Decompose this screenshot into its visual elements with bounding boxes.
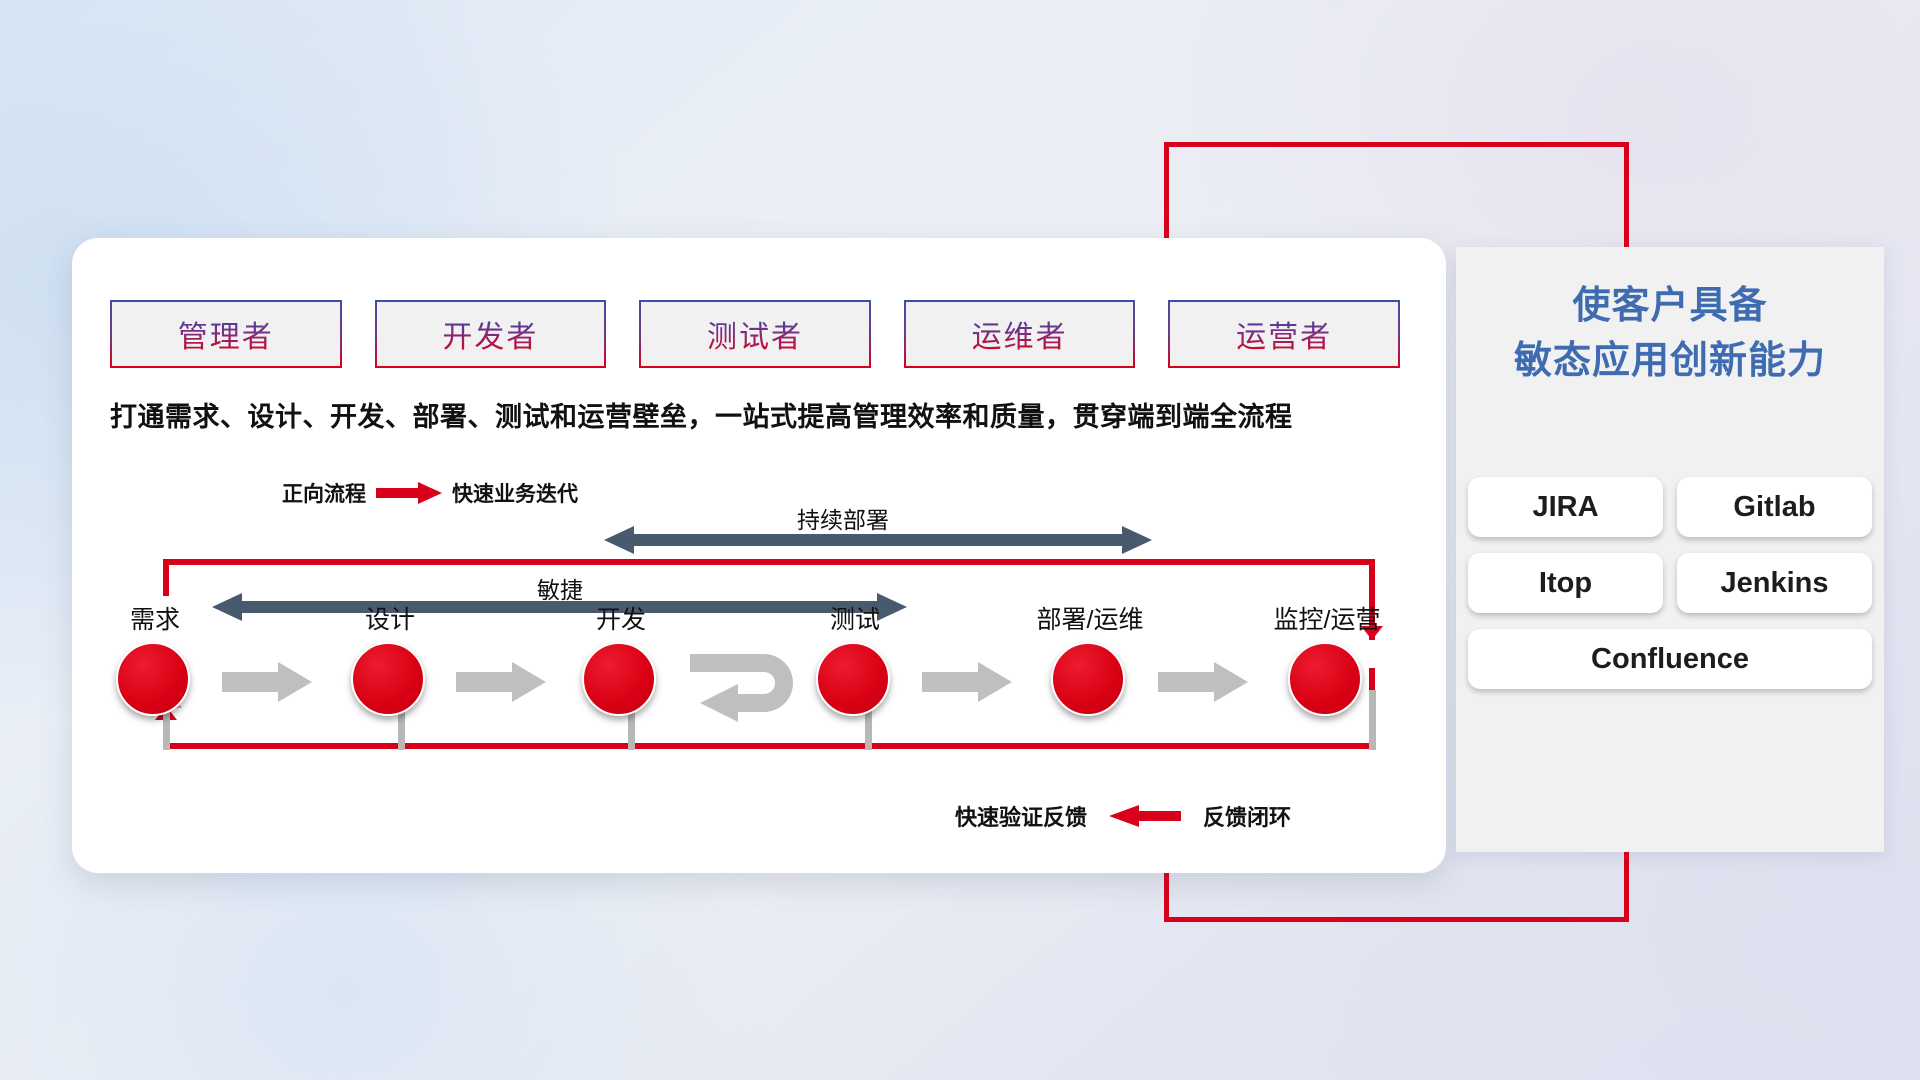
tool-pill-confluence[interactable]: Confluence — [1468, 629, 1872, 689]
flow-node-label: 部署/运维 — [1037, 600, 1144, 636]
capability-panel: 使客户具备 敏态应用创新能力 JIRA Gitlab Itop Jenkins … — [1456, 247, 1884, 852]
flow-node-monitor-operation[interactable]: 监控/运营 — [1288, 642, 1366, 720]
panel-title-line-2: 敏态应用创新能力 — [1456, 334, 1884, 389]
flow-node-deploy-ops[interactable]: 部署/运维 — [1051, 642, 1129, 720]
node-circle-icon — [582, 642, 656, 716]
flow-node-label: 测试 — [830, 600, 880, 636]
legend-forward-from-label: 正向流程 — [282, 478, 366, 508]
role-box-ops[interactable]: 运维者 — [904, 300, 1136, 368]
tool-pill-itop[interactable]: Itop — [1468, 553, 1663, 613]
flow-node-design[interactable]: 设计 — [351, 642, 429, 720]
tool-pill-gitlab[interactable]: Gitlab — [1677, 477, 1872, 537]
bracket-bottom-segment — [1164, 917, 1629, 922]
right-arrow-icon-connector-2 — [456, 662, 546, 702]
tool-pill-jenkins[interactable]: Jenkins — [1677, 553, 1872, 613]
flow-node-row: 需求 设计 开发 测试 部署/运维 — [116, 622, 1406, 732]
legend-feedback-to-label: 反馈闭环 — [1203, 800, 1291, 832]
left-arrow-icon — [1109, 805, 1181, 827]
right-arrow-icon-connector-4 — [922, 662, 1012, 702]
flow-node-label: 开发 — [596, 600, 646, 636]
flow-node-development[interactable]: 开发 — [582, 642, 660, 720]
double-headed-arrow-icon-continuous-deploy — [604, 525, 1152, 555]
flow-node-label: 需求 — [130, 600, 180, 636]
legend-feedback-from-label: 快速验证反馈 — [955, 800, 1087, 832]
role-box-developer[interactable]: 开发者 — [375, 300, 607, 368]
double-headed-arrow-icon-agile — [212, 592, 907, 622]
node-circle-icon — [351, 642, 425, 716]
role-box-operation[interactable]: 运营者 — [1168, 300, 1400, 368]
node-circle-icon — [1051, 642, 1125, 716]
node-circle-icon — [1288, 642, 1362, 716]
node-circle-icon — [116, 642, 190, 716]
flow-node-label: 监控/运营 — [1274, 600, 1381, 636]
flow-node-requirement[interactable]: 需求 — [116, 642, 194, 720]
right-arrow-icon — [376, 482, 442, 504]
tool-pill-grid: JIRA Gitlab Itop Jenkins Confluence — [1468, 477, 1872, 689]
bracket-left-top-segment — [1164, 142, 1169, 252]
right-arrow-icon-connector-1 — [222, 662, 312, 702]
panel-title: 使客户具备 敏态应用创新能力 — [1456, 279, 1884, 389]
right-arrow-icon-connector-5 — [1158, 662, 1248, 702]
legend-forward-to-label: 快速业务迭代 — [452, 478, 578, 508]
panel-title-line-1: 使客户具备 — [1456, 279, 1884, 334]
tool-pill-jira[interactable]: JIRA — [1468, 477, 1663, 537]
headline-text: 打通需求、设计、开发、部署、测试和运营壁垒，一站式提高管理效率和质量，贯穿端到端… — [110, 395, 1430, 434]
role-box-row: 管理者 开发者 测试者 运维者 运营者 — [110, 300, 1400, 368]
role-label: 运维者 — [972, 312, 1068, 356]
role-box-manager[interactable]: 管理者 — [110, 300, 342, 368]
role-label: 测试者 — [707, 312, 803, 356]
role-label: 管理者 — [178, 312, 274, 356]
role-label: 运营者 — [1236, 312, 1332, 356]
slide-canvas: 管理者 开发者 测试者 运维者 运营者 打通需求、设计、开发、部署、测试和运营壁… — [0, 0, 1920, 1080]
legend-feedback-loop: 快速验证反馈 反馈闭环 — [955, 800, 1291, 832]
legend-forward-process: 正向流程 快速业务迭代 — [282, 478, 578, 508]
role-label: 开发者 — [442, 312, 538, 356]
role-box-tester[interactable]: 测试者 — [639, 300, 871, 368]
flow-node-label: 设计 — [365, 600, 415, 636]
flow-node-testing[interactable]: 测试 — [816, 642, 894, 720]
node-circle-icon — [816, 642, 890, 716]
bracket-top-segment — [1164, 142, 1629, 147]
loop-back-arrow-icon-connector-3 — [686, 644, 804, 722]
